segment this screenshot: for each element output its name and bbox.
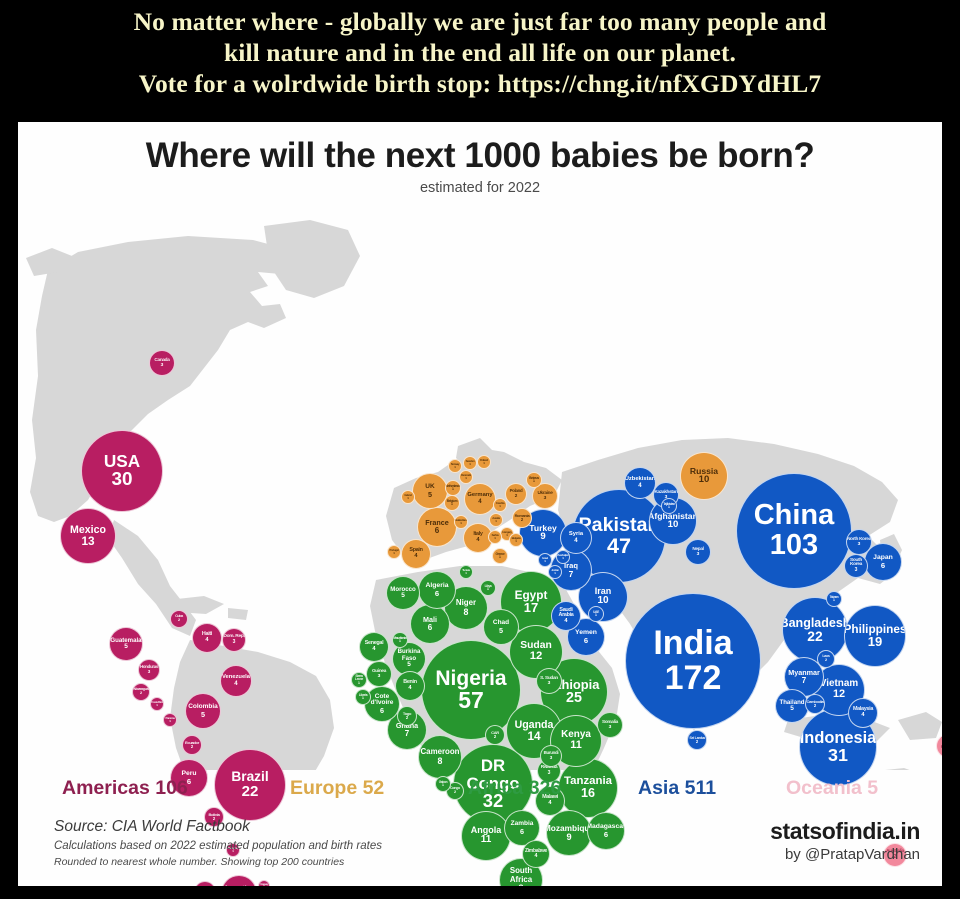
bubble-country-label: South Korea: [845, 559, 867, 569]
bubble-chad[interactable]: Chad5: [483, 609, 519, 645]
bubble-country-label: Finland: [480, 459, 488, 462]
legend-item-oceania: Oceania 5: [786, 777, 878, 800]
bubble-country-label: Poland: [510, 489, 523, 493]
bubble-country-label: Mauritania: [394, 637, 407, 640]
bubble-value-label: 1: [465, 572, 467, 575]
bubble-usa[interactable]: USA30: [81, 430, 163, 512]
bubble-value-label: 1: [465, 477, 467, 480]
bubble-value-label: 6: [584, 637, 588, 645]
bubble-nepal[interactable]: Nepal3: [685, 539, 711, 565]
bubble-value-label: 25: [566, 691, 582, 706]
bubble-value-label: 1: [495, 520, 497, 523]
bubble-country-label: Nicaragua: [134, 688, 149, 692]
brand-block: statsofindia.in by @PratapVardhan: [770, 818, 920, 863]
bubble-country-label: Belgium: [447, 500, 457, 503]
bubble-malaysia[interactable]: Malaysia4: [848, 698, 878, 728]
bubble-honduras[interactable]: Honduras3: [138, 659, 160, 681]
bubble-value-label: 3: [233, 640, 236, 645]
bubble-country-label: Hungary: [502, 531, 511, 534]
bubble-value-label: 1: [533, 480, 535, 483]
bubble-ireland[interactable]: Ireland1: [401, 490, 415, 504]
banner-line-3: Vote for a wolrdwide birth stop: https:/…: [14, 68, 946, 99]
legend-item-asia: Asia 511: [638, 777, 716, 800]
bubble-liberia[interactable]: Liberia1: [355, 689, 371, 705]
bubble-value-label: 6: [435, 527, 439, 535]
bubble-mexico[interactable]: Mexico13: [60, 508, 116, 564]
bubble-south-korea[interactable]: South Korea3: [844, 554, 868, 578]
bubble-belgium[interactable]: Belgium1: [444, 495, 460, 511]
bubble-country-label: Taiwan: [830, 596, 839, 599]
bubble-country-label: Sweden: [466, 460, 475, 463]
bubble-value-label: 1: [499, 505, 501, 508]
bubble-country-label: Cuba: [175, 615, 183, 619]
bubble-country-label: Italy: [473, 532, 482, 538]
bubble-country-label: Sierra Leone: [352, 675, 366, 682]
bubble-value-label: 3: [550, 756, 553, 761]
bubble-country-label: Cambodia: [807, 700, 824, 704]
bubble-value-label: 1: [451, 503, 453, 506]
brand-author: by @PratapVardhan: [770, 846, 920, 863]
bubble-value-label: 3: [609, 725, 612, 730]
bubble-value-label: 8: [438, 757, 443, 766]
bubble-guatemala[interactable]: Guatemala5: [109, 627, 143, 661]
bubble-value-label: 4: [205, 638, 208, 644]
bubble-value-label: 4: [564, 619, 567, 625]
bubble-value-label: 1: [483, 462, 485, 465]
bubble-venezuela[interactable]: Venezuela4: [220, 665, 252, 697]
bubble-country-label: Laos: [822, 655, 829, 659]
bubble-value-label: 1: [515, 540, 517, 543]
activist-banner: No matter where - globally we are just f…: [0, 0, 960, 112]
bubble-value-label: 4: [574, 538, 577, 544]
bubble-value-label: 172: [665, 661, 722, 696]
bubble-s-sudan[interactable]: S. Sudan3: [536, 668, 562, 694]
bubble-value-label: 1: [668, 506, 670, 509]
bubble-russia[interactable]: Russia10: [680, 452, 728, 500]
bubble-value-label: 1: [595, 614, 597, 617]
bubble-country-label: Switzerland: [455, 519, 467, 522]
bubble-value-label: 14: [527, 730, 540, 742]
bubble-taiwan[interactable]: Taiwan1: [826, 591, 842, 607]
bubble-spain[interactable]: Spain4: [401, 539, 431, 569]
bubble-value-label: 3: [858, 542, 861, 547]
bubble-country-label: Denmark: [461, 474, 471, 477]
bubble-value-label: 4: [408, 686, 411, 692]
bubble-value-label: 3: [544, 496, 547, 501]
bubble-value-label: 4: [861, 713, 864, 719]
bubble-country-label: North Korea: [847, 537, 871, 542]
bubble-country-label: Libya: [485, 585, 492, 588]
bubble-bangladesh[interactable]: Bangladesh22: [782, 597, 848, 663]
bubble-value-label: 8: [464, 608, 469, 617]
bubble-car[interactable]: CAR2: [485, 725, 505, 745]
bubble-value-label: 6: [380, 707, 384, 714]
bubble-value-label: 7: [405, 730, 409, 738]
bubble-value-label: 4: [638, 483, 641, 489]
bubble-layer: India172China103Nigeria57Pakistan47USA30…: [18, 200, 942, 770]
bubble-costa-rica[interactable]: Costa Rica1: [150, 697, 164, 711]
bubble-senegal[interactable]: Senegal4: [359, 632, 389, 662]
bubble-uae[interactable]: UAE1: [588, 606, 604, 622]
bubble-value-label: 5: [499, 627, 503, 634]
bubble-syria[interactable]: Syria4: [560, 522, 592, 554]
bubble-country-label: Sri Lanka: [689, 736, 704, 740]
bubble-value-label: 1: [452, 488, 454, 491]
bubble-country-label: Tunisia: [462, 569, 469, 572]
bubble-country-label: Austria: [492, 517, 500, 520]
bubble-value-label: 17: [524, 601, 538, 614]
bubble-value-label: 3: [855, 568, 858, 573]
bubble-jordan[interactable]: Jordan1: [548, 565, 562, 579]
bubble-guinea[interactable]: Guinea3: [366, 661, 392, 687]
legend-item-europe: Europe 52: [290, 777, 384, 800]
bubble-value-label: 1: [469, 463, 471, 466]
bubble-country-label: Togo: [403, 712, 411, 716]
bubble-value-label: 4: [234, 681, 237, 687]
legend-item-africa: Africa 326: [468, 777, 561, 800]
bubble-sweden[interactable]: Sweden1: [463, 456, 477, 470]
bubble-bulgaria[interactable]: Bulgaria1: [509, 533, 523, 547]
bubble-country-label: Nepal: [692, 547, 703, 552]
bubble-value-label: 2: [178, 619, 180, 623]
bubble-colombia[interactable]: Colombia5: [185, 693, 221, 729]
bubble-country-label: Romania: [515, 514, 530, 518]
bubble-cuba[interactable]: Cuba2: [170, 610, 188, 628]
bubble-value-label: 1: [454, 466, 456, 469]
bubble-country-label: USA: [104, 453, 140, 471]
bubble-country-label: Nigeria: [435, 668, 506, 689]
bubble-value-label: 1: [554, 572, 556, 575]
bubble-country-label: Czechia: [496, 502, 504, 505]
bubble-value-label: 1: [494, 537, 496, 540]
region-legend: Americas 106Europe 52Africa 326Asia 511O…: [18, 777, 942, 813]
bubble-country-label: Serbia: [492, 534, 499, 537]
bubble-value-label: 6: [428, 624, 432, 632]
bubble-value-label: 11: [570, 740, 582, 751]
bubble-haiti[interactable]: Haiti4: [192, 623, 222, 653]
bubble-country-label: Portugal: [390, 549, 399, 552]
bubble-value-label: 1: [506, 534, 508, 537]
bubble-country-label: Senegal: [365, 641, 384, 647]
bubble-cameroon[interactable]: Cameroon8: [418, 735, 462, 779]
bubble-cambodia[interactable]: Cambodia2: [805, 694, 825, 714]
bubble-value-label: 7: [569, 570, 574, 579]
bubble-country-label: Azerbaijan: [557, 554, 568, 557]
bubble-thailand[interactable]: Thailand5: [775, 689, 809, 723]
bubble-morocco[interactable]: Morocco5: [386, 576, 420, 610]
bubble-algeria[interactable]: Algeria6: [418, 571, 456, 609]
bubble-country-label: Burundi: [544, 751, 559, 755]
bubble-value-label: 6: [881, 562, 885, 570]
banner-line-2: kill nature and in the end all life on o…: [14, 37, 946, 68]
bubble-value-label: 5: [401, 593, 405, 600]
bubble-china[interactable]: China103: [736, 473, 852, 589]
bubble-tunisia[interactable]: Tunisia1: [459, 565, 473, 579]
bubble-value-label: 2: [191, 745, 193, 749]
bubble-country-label: CAR: [491, 731, 499, 735]
bubble-country-label: Ireland: [404, 494, 411, 497]
bubble-value-label: 3: [548, 681, 551, 686]
bubble-libya[interactable]: Libya1: [480, 580, 496, 596]
bubble-value-label: 19: [868, 635, 882, 648]
bubble-country-label: UAE: [593, 611, 599, 614]
bubble-value-label: 31: [828, 746, 848, 764]
bubble-country-label: Greece: [495, 553, 504, 556]
bubble-value-label: 2: [406, 716, 408, 720]
bubble-sri-lanka[interactable]: Sri Lanka2: [687, 730, 707, 750]
bubble-value-label: 22: [807, 629, 822, 643]
bubble-germany[interactable]: Germany4: [464, 483, 496, 515]
bubble-country-label: Israel: [542, 557, 548, 560]
bubble-czechia[interactable]: Czechia1: [493, 498, 507, 512]
bubble-value-label: 5: [790, 706, 794, 713]
bubble-value-label: 57: [458, 689, 484, 712]
bubble-value-label: 1: [499, 556, 501, 559]
infographic-panel: Where will the next 1000 babies be born?…: [18, 122, 942, 886]
bubble-value-label: 5: [201, 711, 205, 718]
bubble-poland[interactable]: Poland2: [505, 483, 527, 505]
bubble-value-label: 3: [548, 771, 551, 776]
bubble-country-label: Netherlands: [445, 485, 460, 488]
bubble-israel[interactable]: Israel1: [538, 553, 552, 567]
bubble-country-label: Papua New Guinea: [937, 736, 942, 751]
bubble-value-label: 4: [372, 647, 375, 653]
bubble-sierra-leone[interactable]: Sierra Leone1: [351, 672, 367, 688]
bubble-value-label: 1: [169, 720, 171, 723]
bubble-value-label: 1: [407, 497, 409, 500]
bubble-value-label: 5: [407, 662, 411, 669]
bubble-country-label: Panama: [166, 717, 175, 720]
bubble-dom-rep-[interactable]: Dom. Rep.3: [222, 628, 246, 652]
bubble-value-label: 10: [699, 475, 710, 485]
bubble-country-label: Honduras: [140, 665, 158, 669]
bubble-value-label: 2: [814, 704, 816, 708]
bubble-country-label: Norway: [451, 463, 459, 466]
bubble-benin[interactable]: Benin4: [395, 671, 425, 701]
bubble-norway[interactable]: Norway1: [448, 459, 462, 473]
bubble-value-label: 3: [161, 363, 164, 368]
bubble-finland[interactable]: Finland1: [477, 455, 491, 469]
bubble-philippines[interactable]: Philippines19: [844, 605, 906, 667]
bubble-value-label: 30: [111, 470, 132, 489]
bubble-country-label: Liberia: [359, 694, 367, 697]
source-note-1: Calculations based on 2022 estimated pop…: [54, 840, 382, 852]
source-label: Source: CIA World Factbook: [54, 818, 250, 836]
bubble-value-label: 1: [393, 552, 395, 555]
bubble-country-label: Costa Rica: [151, 701, 162, 704]
bubble-nicaragua[interactable]: Nicaragua2: [132, 683, 150, 701]
bubble-country-label: Tajikistan: [663, 503, 674, 506]
bubble-burundi[interactable]: Burundi3: [540, 745, 562, 767]
bubble-panama[interactable]: Panama1: [163, 713, 177, 727]
bubble-canada[interactable]: Canada3: [149, 350, 175, 376]
bubble-value-label: 13: [81, 535, 94, 547]
bubble-value-label: 2: [825, 659, 827, 663]
bubble-value-label: 5: [124, 644, 128, 651]
bubble-value-label: 1: [562, 557, 564, 560]
bubble-country-label: S. Sudan: [540, 676, 558, 681]
bubble-country-label: Bolivia: [208, 813, 219, 817]
legend-item-americas: Americas 106: [62, 777, 188, 800]
bubble-india[interactable]: India172: [625, 593, 761, 729]
bubble-switzerland[interactable]: Switzerland1: [454, 515, 468, 529]
bubble-value-label: 3: [378, 674, 381, 679]
bubble-value-label: 1: [487, 588, 489, 591]
bubble-country-label: Saudi Arabia: [552, 608, 580, 619]
bubble-romania[interactable]: Romania2: [512, 508, 532, 528]
bubble-country-label: Spain: [409, 548, 422, 554]
bubble-value-label: 4: [478, 499, 481, 505]
bubble-value-label: 1: [399, 640, 401, 643]
bubble-value-label: 12: [833, 689, 845, 700]
bubble-uzbekistan[interactable]: Uzbekistan4: [624, 467, 656, 499]
bubble-laos[interactable]: Laos2: [817, 650, 835, 668]
bubble-country-label: Benin: [403, 680, 416, 686]
bubble-value-label: 2: [521, 518, 523, 522]
bubble-netherlands[interactable]: Netherlands1: [445, 480, 461, 496]
bubble-country-label: Kazakhstan: [654, 490, 677, 495]
bubble-country-label: Belarus: [529, 477, 539, 480]
bubble-country-label: Dom. Rep.: [223, 635, 244, 640]
bubble-country-label: India: [653, 626, 732, 661]
bubble-value-label: 2: [696, 740, 698, 744]
bubble-tajikistan[interactable]: Tajikistan1: [661, 498, 677, 514]
bubble-value-label: 2: [494, 735, 496, 739]
bubble-uk[interactable]: UK5: [412, 473, 448, 509]
bubble-country-label: Jordan: [551, 569, 559, 572]
bubble-value-label: 7: [802, 677, 806, 685]
bubble-value-label: 4: [414, 554, 417, 560]
banner-line-1: No matter where - globally we are just f…: [14, 6, 946, 37]
bubble-value-label: 6: [435, 590, 439, 598]
bubble-saudi-arabia[interactable]: Saudi Arabia4: [551, 601, 581, 631]
bubble-value-label: 4: [476, 538, 479, 544]
bubble-togo[interactable]: Togo2: [397, 706, 417, 726]
bubble-country-label: Ecuador: [185, 741, 199, 745]
bubble-country-label: Guinea: [372, 669, 386, 674]
bubble-greece[interactable]: Greece1: [492, 548, 508, 564]
bubble-country-label: Haiti: [202, 632, 212, 638]
bubble-value-label: 2: [515, 494, 518, 499]
bubble-value-label: 1: [362, 697, 364, 700]
bubble-denmark[interactable]: Denmark1: [459, 470, 473, 484]
bubble-value-label: 10: [668, 520, 679, 530]
page-subtitle: estimated for 2022: [18, 180, 942, 196]
bubble-country-label: Ukraine: [537, 491, 552, 496]
source-note-2: Rounded to nearest whole number. Showing…: [54, 856, 344, 868]
bubble-austria[interactable]: Austria1: [489, 513, 503, 527]
bubble-value-label: 47: [607, 535, 631, 557]
bubble-value-label: 9: [540, 532, 545, 542]
bubble-belarus[interactable]: Belarus1: [526, 472, 542, 488]
bubble-value-label: 3: [697, 552, 700, 557]
bubble-country-label: Canada: [154, 358, 169, 363]
bubble-value-label: 3: [148, 670, 151, 675]
page-title: Where will the next 1000 babies be born?: [18, 136, 942, 176]
footer: Source: CIA World Factbook Calculations …: [18, 818, 942, 886]
bubble-country-label: China: [754, 501, 835, 531]
bubble-country-label: Somalia: [602, 720, 618, 725]
bubble-value-label: 12: [530, 651, 543, 663]
brand-name: statsofindia.in: [770, 818, 920, 845]
bubble-country-label: Malaysia: [853, 707, 873, 713]
bubble-value-label: 1: [833, 599, 835, 602]
bubble-value-label: 2: [140, 692, 142, 696]
bubble-value-label: 5: [428, 491, 432, 498]
bubble-north-korea[interactable]: North Korea3: [846, 529, 872, 555]
bubble-country-label: Indonesia: [800, 730, 877, 747]
bubble-ecuador[interactable]: Ecuador2: [182, 735, 202, 755]
bubble-value-label: 1: [544, 560, 546, 563]
bubble-somalia[interactable]: Somalia3: [597, 712, 623, 738]
bubble-country-label: Bulgaria: [512, 537, 521, 540]
bubble-mauritania[interactable]: Mauritania1: [392, 632, 408, 648]
bubble-value-label: 103: [770, 531, 818, 561]
bubble-value-label: 10: [597, 596, 608, 606]
bubble-value-label: 1: [156, 704, 158, 707]
bubble-papua-new-guinea[interactable]: Papua New Guinea2: [936, 734, 942, 758]
bubble-serbia[interactable]: Serbia1: [488, 530, 502, 544]
bubble-value-label: 1: [460, 522, 462, 525]
bubble-mali[interactable]: Mali6: [410, 604, 450, 644]
bubble-value-label: 1: [358, 682, 360, 685]
bubble-portugal[interactable]: Portugal1: [387, 545, 401, 559]
bubble-azerbaijan[interactable]: Azerbaijan1: [556, 550, 570, 564]
